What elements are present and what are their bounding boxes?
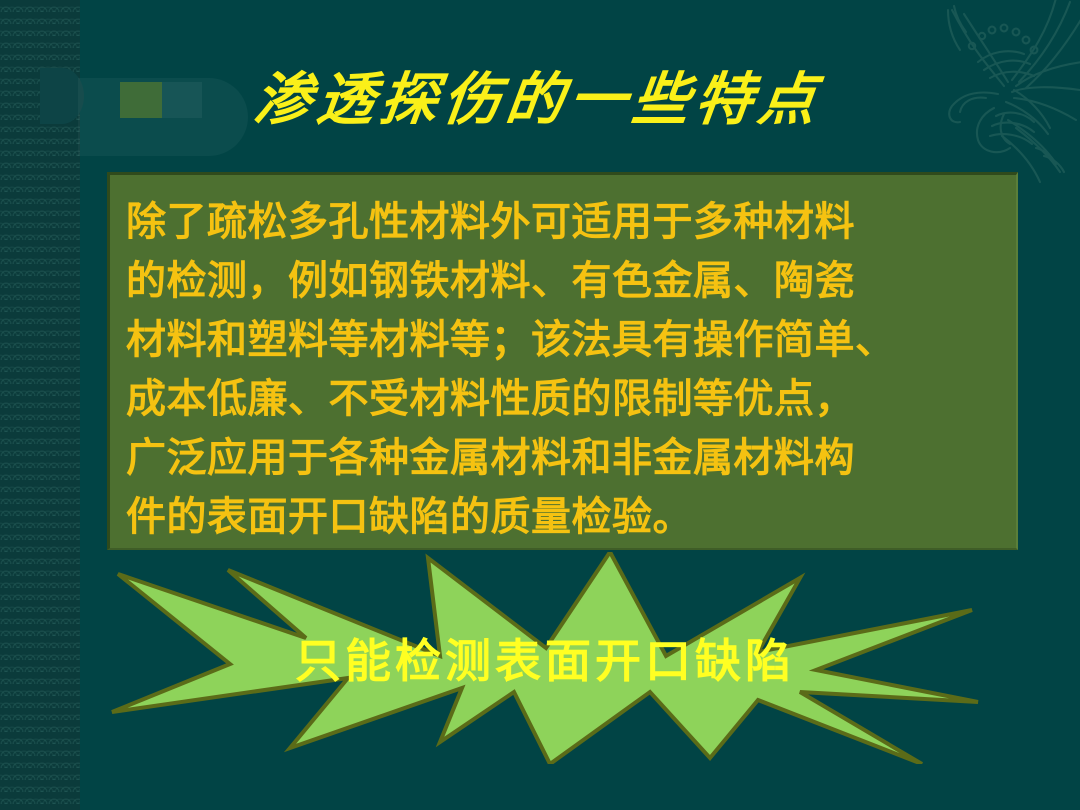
burst-callout: 只能检测表面开口缺陷 — [110, 552, 980, 764]
body-text-line: 的检测，例如钢铁材料、有色金属、陶瓷 — [126, 252, 1008, 311]
burst-star-shape — [110, 552, 980, 764]
title-accent-chip-secondary — [162, 82, 202, 118]
body-text-line: 除了疏松多孔性材料外可适用于多种材料 — [126, 193, 1008, 252]
body-content-box: 除了疏松多孔性材料外可适用于多种材料 的检测，例如钢铁材料、有色金属、陶瓷 材料… — [107, 172, 1018, 550]
butterfly-watermark-icon — [886, 0, 1080, 190]
title-accent-chip — [120, 82, 162, 118]
body-text-line: 广泛应用于各种金属材料和非金属材料构 — [126, 429, 1008, 488]
presentation-slide: 渗透探伤的一些特点 除了疏松多孔性材料外可适用于多种材料 的检测，例如钢铁材料、… — [0, 0, 1080, 810]
body-text-line: 成本低廉、不受材料性质的限制等优点， — [126, 370, 1008, 429]
slide-title: 渗透探伤的一些特点 — [213, 62, 862, 138]
left-texture-band — [0, 0, 80, 810]
body-text-line: 材料和塑料等材料等；该法具有操作简单、 — [126, 311, 1008, 370]
body-text-line: 件的表面开口缺陷的质量检验。 — [126, 488, 1008, 547]
